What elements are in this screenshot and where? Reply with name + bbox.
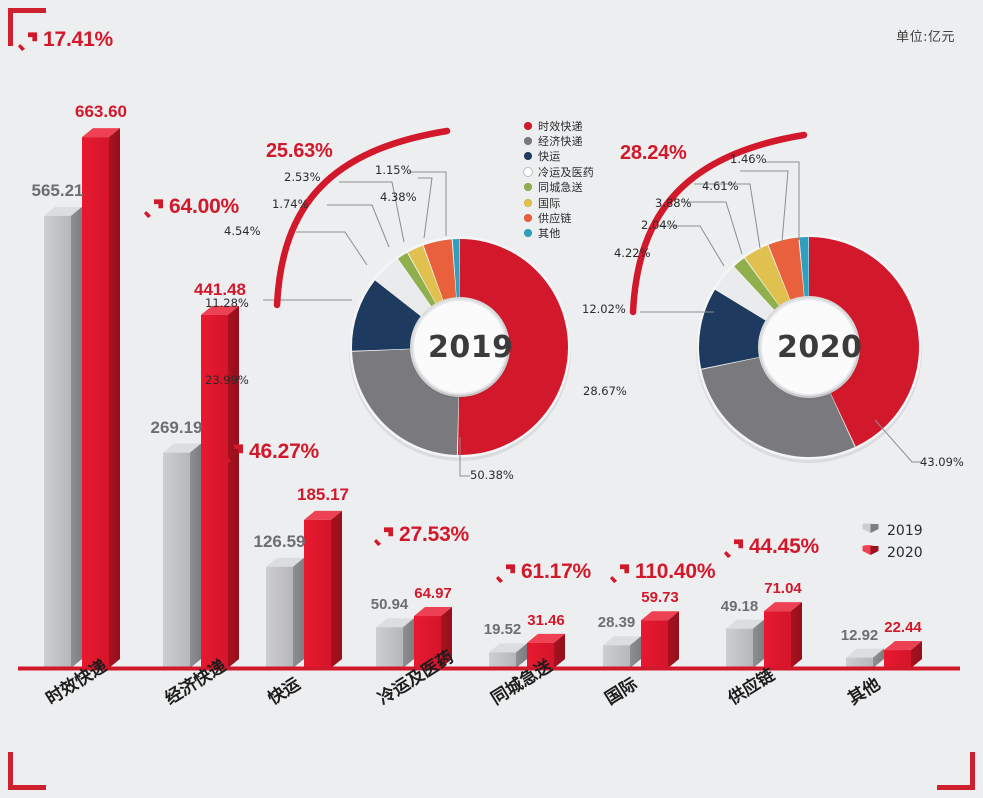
bar-value-2020-4: 31.46 (527, 612, 565, 629)
donut-2020-percent-0: 43.09% (920, 455, 964, 469)
pie-legend-item-3[interactable]: 冷运及医药 (524, 164, 594, 179)
trend-up-arrow-icon (142, 195, 166, 219)
trend-up-arrow-icon (16, 28, 40, 52)
donut-2020-percent-7: 1.46% (730, 152, 767, 166)
donut-2019-title: 2019 (428, 330, 514, 365)
bar-value-2020-5: 59.73 (641, 589, 679, 606)
bar-value-2020-7: 22.44 (884, 619, 922, 636)
bar-value-2020-2: 185.17 (297, 485, 349, 505)
pie-legend-label: 其他 (538, 225, 560, 241)
bar-value-2020-3: 64.97 (414, 585, 452, 602)
growth-callout-6: 44.45% (722, 535, 819, 559)
legend-cube-icon (862, 545, 879, 561)
bar-legend-label: 2020 (887, 545, 923, 561)
growth-callout-0: 17.41% (16, 28, 113, 52)
bar-legend-label: 2019 (887, 523, 923, 539)
donut-2020-title: 2020 (777, 330, 863, 365)
pie-legend-label: 国际 (538, 195, 560, 211)
legend-color-dot-icon (524, 214, 532, 222)
bar-legend-item-0[interactable]: 2019 (862, 520, 923, 542)
donut-2020-percent-1: 28.67% (583, 384, 627, 398)
bar-value-2019-4: 19.52 (484, 621, 522, 638)
trend-up-arrow-icon (494, 560, 518, 584)
donut-2020-percent-5: 3.88% (655, 196, 692, 210)
trend-up-arrow-icon (722, 535, 746, 559)
pie-legend-label: 同城急送 (538, 179, 583, 195)
donut-2019-percent-1: 23.99% (205, 373, 249, 387)
pie-legend-item-0[interactable]: 时效快递 (524, 118, 594, 133)
trend-up-arrow-icon (608, 560, 632, 584)
donut-2019-percent-2: 11.28% (205, 296, 249, 310)
donut-2019-percent-7: 1.15% (375, 163, 412, 177)
bar-value-2019-0: 565.21 (32, 181, 84, 201)
legend-color-dot-icon (524, 229, 532, 237)
trend-up-arrow-icon (372, 523, 396, 547)
series-legend-pie: 时效快递经济快递快运冷运及医药同城急送国际供应链其他 (524, 118, 594, 241)
growth-callout-4: 61.17% (494, 560, 591, 584)
pie-legend-label: 供应链 (538, 210, 572, 226)
bar-value-2019-5: 28.39 (598, 614, 636, 631)
pie-legend-label: 快运 (538, 148, 560, 164)
bar-legend-item-1[interactable]: 2020 (862, 542, 923, 564)
legend-color-dot-icon (524, 199, 532, 207)
pie-legend-label: 经济快递 (538, 133, 583, 149)
bar-value-2019-1: 269.19 (151, 418, 203, 438)
donut-2020-percent-4: 2.04% (641, 218, 678, 232)
pie-legend-item-5[interactable]: 国际 (524, 195, 594, 210)
donut-2019-percent-0: 50.38% (470, 468, 514, 482)
pie-growth-callout-2020: 28.24% (620, 142, 687, 165)
donut-2020-percent-3: 4.22% (614, 246, 651, 260)
pie-legend-item-6[interactable]: 供应链 (524, 210, 594, 225)
bar-value-2019-7: 12.92 (841, 627, 879, 644)
legend-color-dot-icon (524, 183, 532, 191)
growth-callout-5: 110.40% (608, 560, 715, 584)
donut-2020-percent-6: 4.61% (702, 179, 739, 193)
series-legend-bar: 20192020 (862, 520, 923, 564)
pie-legend-item-1[interactable]: 经济快递 (524, 133, 594, 148)
bar-value-2019-6: 49.18 (721, 598, 759, 615)
bar-value-2019-2: 126.59 (254, 532, 306, 552)
bar-value-2020-0: 663.60 (75, 102, 127, 122)
legend-cube-icon (862, 523, 879, 539)
pie-growth-callout-2019: 25.63% (266, 140, 333, 163)
legend-color-dot-icon (524, 137, 532, 145)
trend-up-arrow-icon (222, 440, 246, 464)
chart-artwork (0, 0, 983, 798)
pie-legend-item-4[interactable]: 同城急送 (524, 180, 594, 195)
pie-legend-label: 时效快递 (538, 118, 583, 134)
bar-value-2019-3: 50.94 (371, 596, 409, 613)
pie-legend-label: 冷运及医药 (538, 164, 594, 180)
growth-callout-1: 64.00% (142, 195, 239, 219)
pie-legend-item-7[interactable]: 其他 (524, 226, 594, 241)
pie-legend-item-2[interactable]: 快运 (524, 149, 594, 164)
bar-value-2020-6: 71.04 (764, 580, 802, 597)
legend-color-dot-icon (524, 168, 532, 176)
legend-color-dot-icon (524, 152, 532, 160)
growth-callout-3: 27.53% (372, 523, 469, 547)
donut-2019-percent-5: 2.53% (284, 170, 321, 184)
infographic-canvas: 单位:亿元 (0, 0, 983, 798)
legend-color-dot-icon (524, 122, 532, 130)
growth-callout-2: 46.27% (222, 440, 319, 464)
donut-2019-percent-6: 4.38% (380, 190, 417, 204)
donut-2019-percent-3: 4.54% (224, 224, 261, 238)
donut-2019-percent-4: 1.74% (272, 197, 309, 211)
donut-2020-percent-2: 12.02% (582, 302, 626, 316)
